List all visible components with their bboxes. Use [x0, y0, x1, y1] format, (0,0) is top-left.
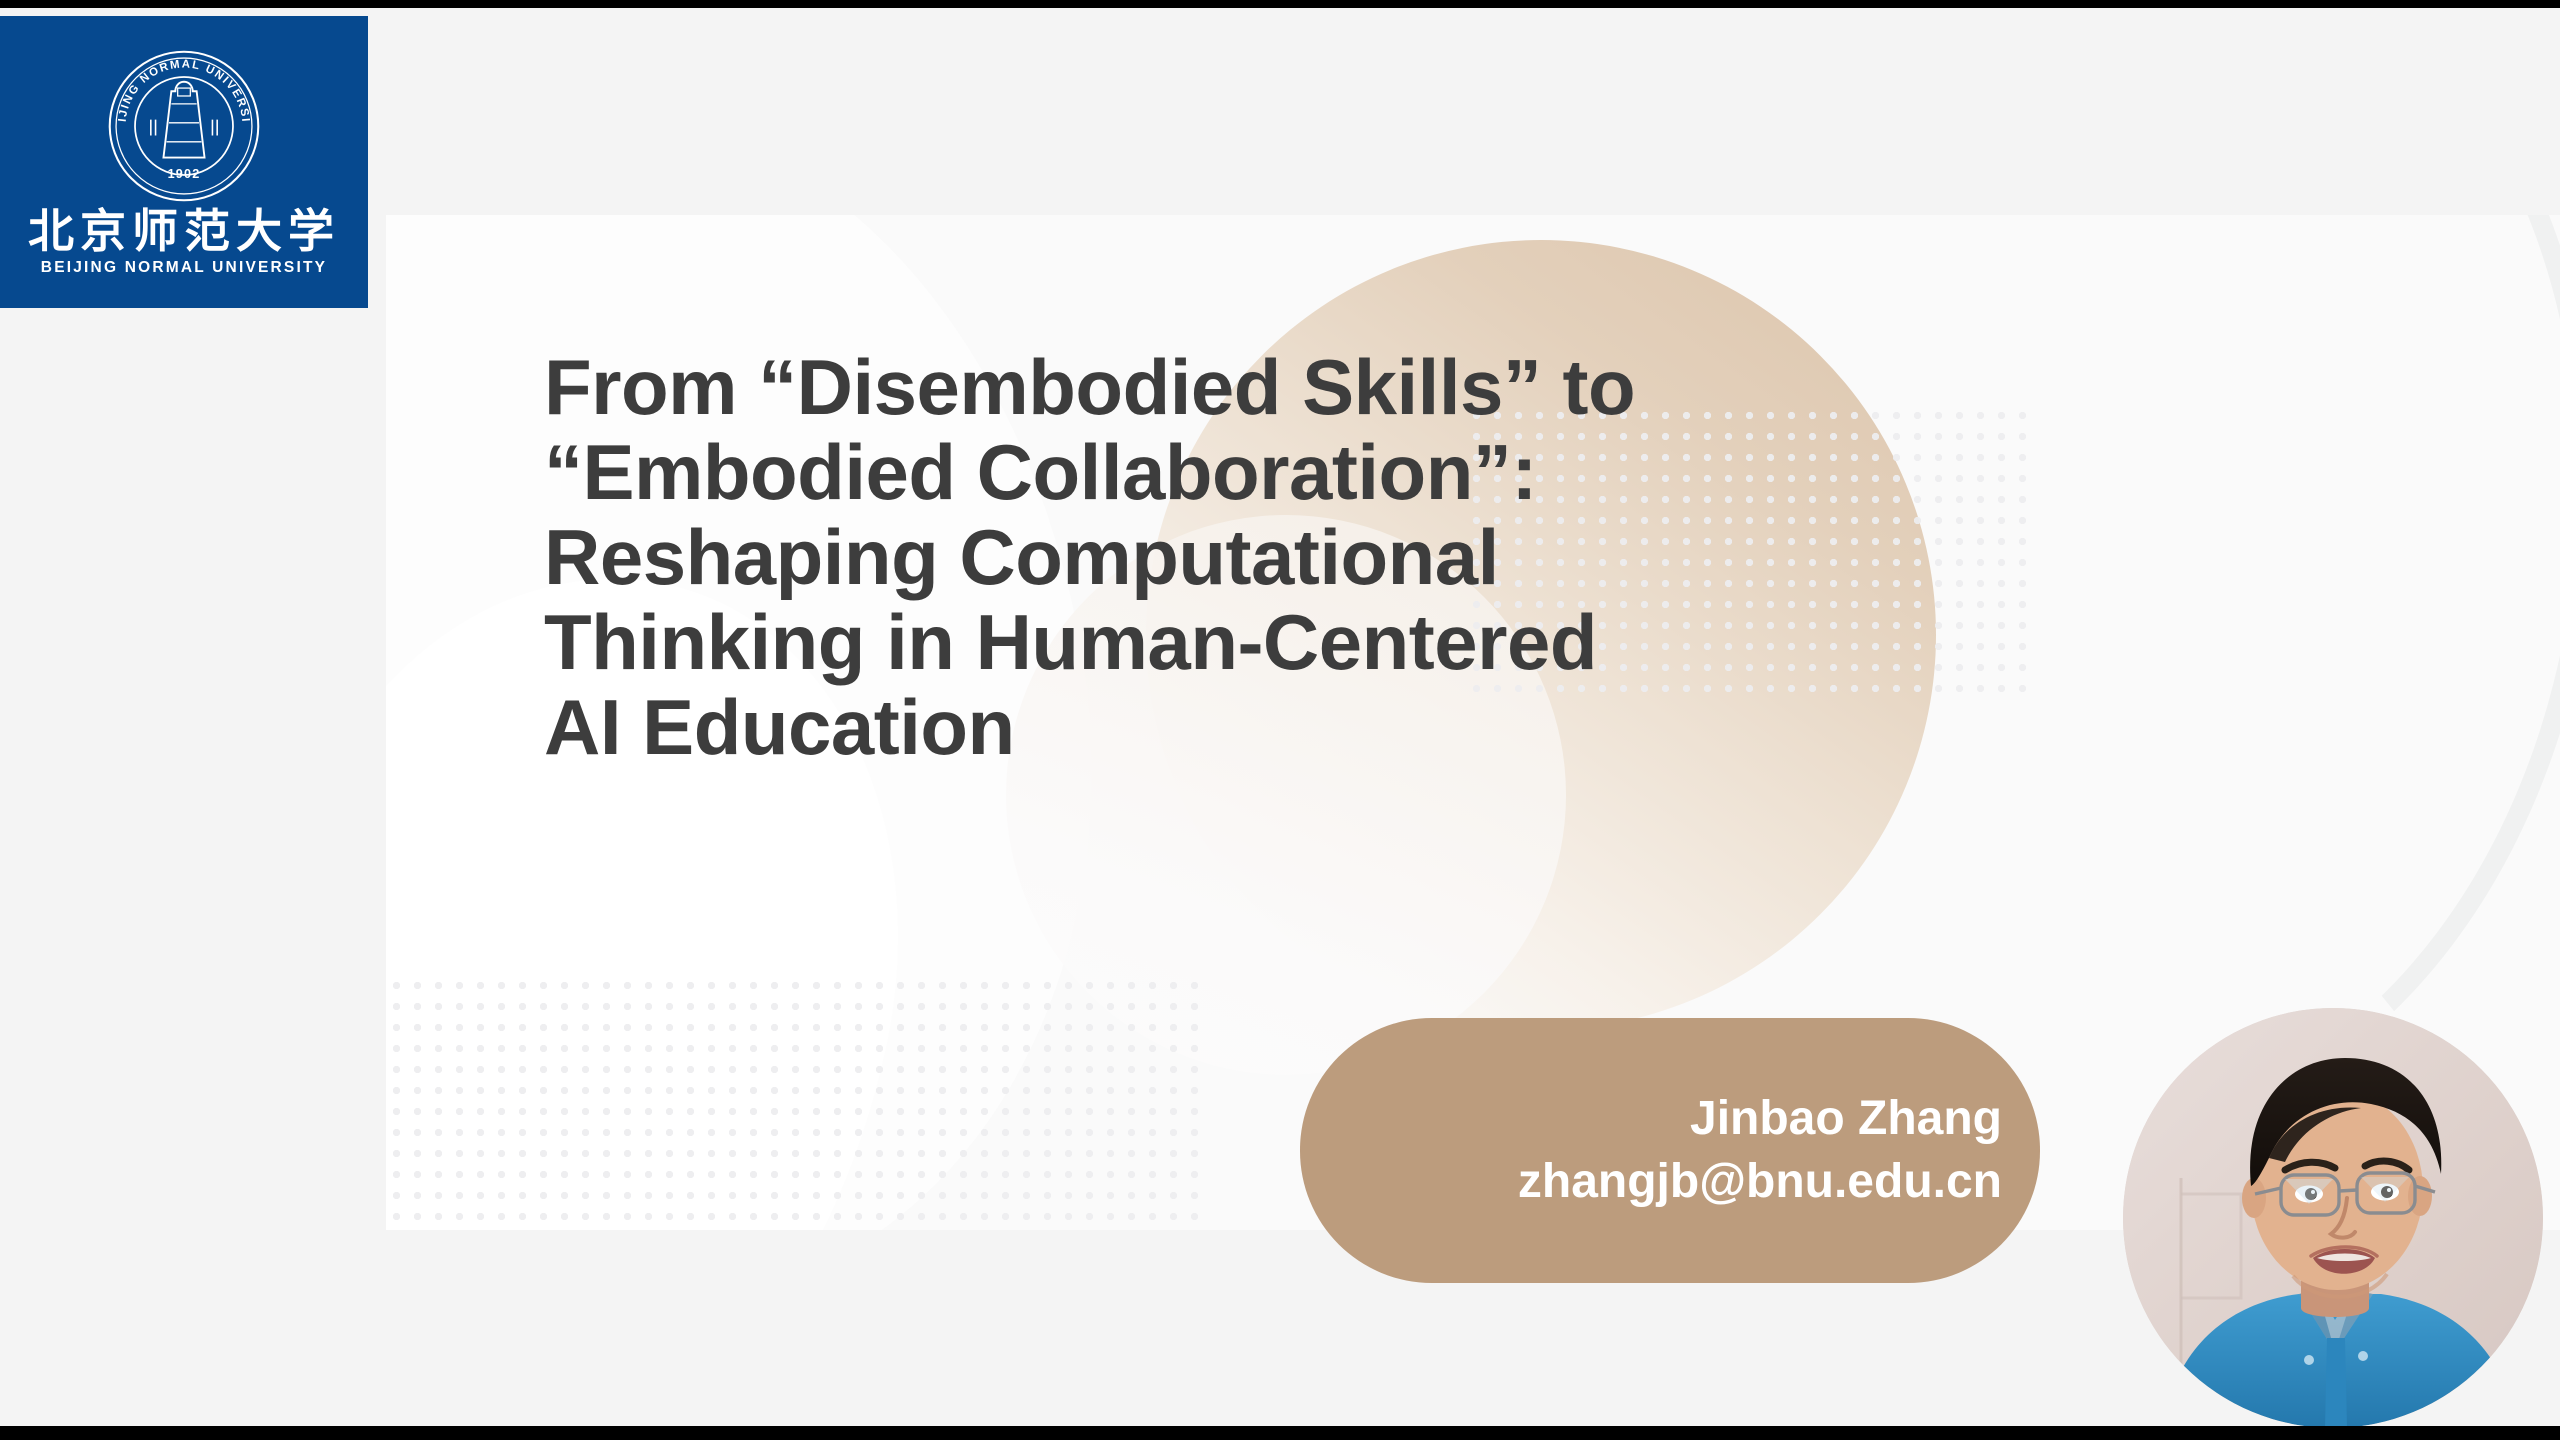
presenter-portrait-image: [2123, 1008, 2543, 1426]
slide-title-line: Reshaping Computational: [544, 515, 2064, 600]
screen-capture-stage: From “Disembodied Skills” to “Embodied C…: [0, 0, 2560, 1440]
slide-title-line: AI Education: [544, 685, 2064, 770]
decorative-dot-pattern-bottom: [386, 975, 1206, 1230]
university-name-english: BEIJING NORMAL UNIVERSITY: [41, 259, 327, 277]
presenter-video-tile[interactable]: [2123, 1008, 2543, 1426]
university-logo: BEIJING NORMAL UNIVERSITY 1902 北京师范大学 BE…: [0, 16, 368, 308]
letterbox-band-bottom: [0, 1426, 2560, 1440]
university-name-chinese: 北京师范大学: [28, 209, 340, 255]
shared-screen-area: From “Disembodied Skills” to “Embodied C…: [0, 8, 2560, 1426]
presenter-name: Jinbao Zhang: [1690, 1089, 2002, 1149]
letterbox-band-top: [0, 0, 2560, 8]
slide-title-line: Thinking in Human-Centered: [544, 600, 2064, 685]
slide-title: From “Disembodied Skills” to “Embodied C…: [544, 345, 2064, 770]
university-seal-icon: BEIJING NORMAL UNIVERSITY 1902: [105, 47, 263, 205]
svg-text:1902: 1902: [168, 167, 201, 181]
presenter-email: zhangjb@bnu.edu.cn: [1518, 1152, 2002, 1212]
slide-title-line: From “Disembodied Skills” to: [544, 345, 2064, 430]
presenter-info-pill: Jinbao Zhang zhangjb@bnu.edu.cn: [1300, 1018, 2040, 1283]
slide-title-line: “Embodied Collaboration”:: [544, 430, 2064, 515]
